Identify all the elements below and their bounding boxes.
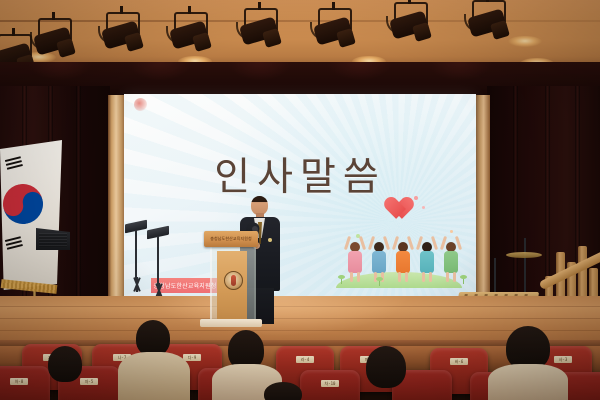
stage-spotlight xyxy=(312,8,356,58)
stage-spotlight xyxy=(168,12,212,62)
music-stand xyxy=(147,228,169,298)
audience-person-shoulders xyxy=(488,364,568,400)
audience-person-shoulders xyxy=(118,352,190,400)
seat-plaque: 다-9 xyxy=(183,354,201,361)
wall-panel-right xyxy=(474,95,490,295)
seat-plaque: 아-8 xyxy=(10,378,28,385)
audience-seat: 아-8 xyxy=(0,366,50,400)
stage-spotlight xyxy=(466,0,510,50)
audience-person-head xyxy=(48,346,82,382)
screen-corner-logo xyxy=(134,98,147,111)
cymbal-stand xyxy=(524,238,526,298)
taeguk-symbol xyxy=(0,180,47,227)
sprout-icon xyxy=(338,275,345,284)
child-figure xyxy=(442,236,460,282)
children-with-heart-illustration xyxy=(332,186,470,294)
heart-icon xyxy=(380,188,406,212)
podium-sign-text: 충청남도한산교육지원청 xyxy=(210,236,252,242)
stage-spotlight xyxy=(238,8,282,58)
music-stand xyxy=(125,222,147,292)
stage-spotlight xyxy=(100,12,144,62)
audience-person-head xyxy=(366,346,406,388)
seat-plaque: 바-6 xyxy=(450,358,468,365)
seat-plaque: 자-5 xyxy=(80,378,98,385)
child-figure xyxy=(346,236,364,282)
child-figure xyxy=(394,236,412,282)
seat-plaque: 사-3 xyxy=(554,356,572,363)
ceiling-seam xyxy=(0,20,600,22)
auditorium-stage-photo: 인사말씀 충청남도한산교육지원청 xyxy=(0,0,600,400)
sprout-icon xyxy=(460,275,467,284)
audience-person-head xyxy=(264,382,302,400)
projection-screen: 인사말씀 충청남도한산교육지원청 xyxy=(124,94,476,300)
audience-seat: 차-10 xyxy=(300,370,360,400)
stage-spotlight xyxy=(32,18,76,68)
institution-emblem xyxy=(224,271,243,290)
sprout-icon xyxy=(376,277,383,286)
child-figure xyxy=(418,236,436,282)
speaking-podium: 충청남도한산교육지원청 xyxy=(200,231,262,323)
downlight xyxy=(508,36,542,47)
drum-cymbal xyxy=(506,252,542,258)
seat-plaque: 차-10 xyxy=(321,380,339,387)
seat-plaque: 라-4 xyxy=(296,356,314,363)
lapel-badge xyxy=(268,238,272,242)
stage-spotlight xyxy=(388,2,432,52)
child-figure xyxy=(370,236,388,282)
audience-person-head xyxy=(136,320,170,356)
audience-seating: 가-1 나-7 다-9 라-4 마-2 바-6 사-3 아-8 자-5 차-10 xyxy=(0,352,600,400)
podium-sign: 충청남도한산교육지원청 xyxy=(204,231,258,247)
